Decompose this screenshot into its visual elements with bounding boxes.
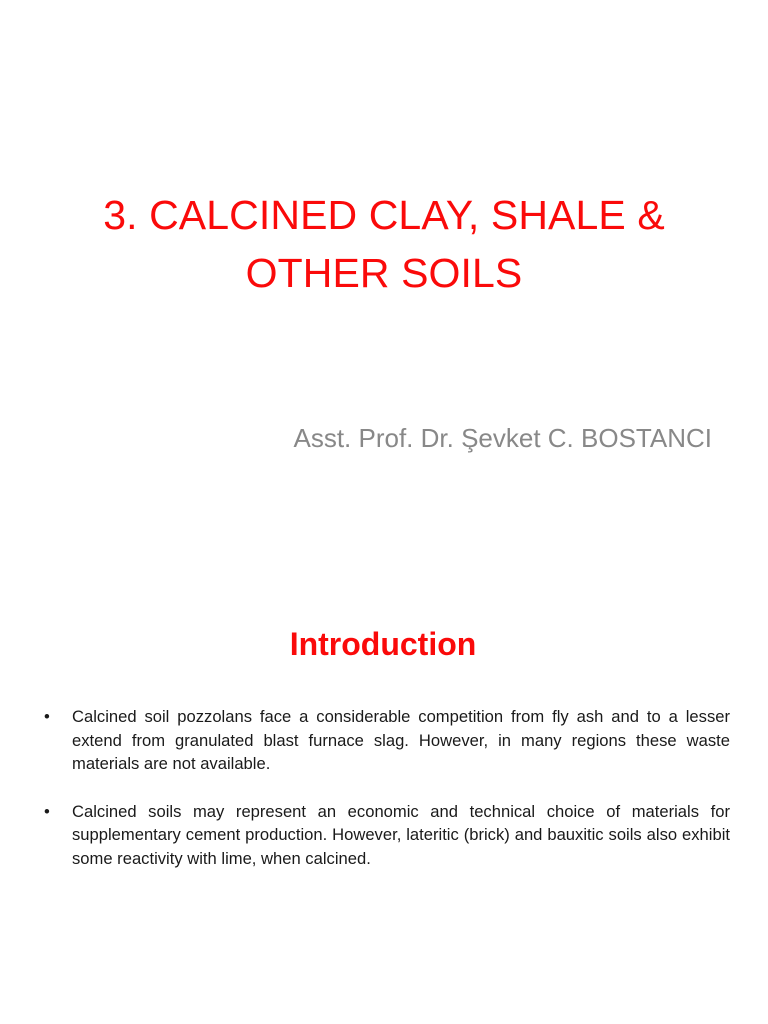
bullet-list: • Calcined soil pozzolans face a conside… — [38, 705, 730, 870]
list-item: • Calcined soils may represent an econom… — [38, 800, 730, 871]
bullet-point-icon: • — [44, 800, 60, 824]
author-block: Asst. Prof. Dr. Şevket C. BOSTANCI — [64, 421, 712, 455]
list-item: • Calcined soil pozzolans face a conside… — [38, 705, 730, 776]
section-heading-introduction: Introduction — [38, 623, 728, 665]
list-item-text: Calcined soils may represent an economic… — [72, 800, 730, 871]
author-name: Asst. Prof. Dr. Şevket C. BOSTANCI — [64, 421, 712, 455]
page-title: 3. CALCINED CLAY, SHALE & OTHER SOILS — [64, 186, 704, 302]
section-heading-block: Introduction — [38, 623, 728, 665]
title-block: 3. CALCINED CLAY, SHALE & OTHER SOILS — [64, 186, 704, 302]
slide-page: 3. CALCINED CLAY, SHALE & OTHER SOILS As… — [0, 0, 768, 1024]
bullet-point-icon: • — [44, 705, 60, 729]
list-item-text: Calcined soil pozzolans face a considera… — [72, 705, 730, 776]
